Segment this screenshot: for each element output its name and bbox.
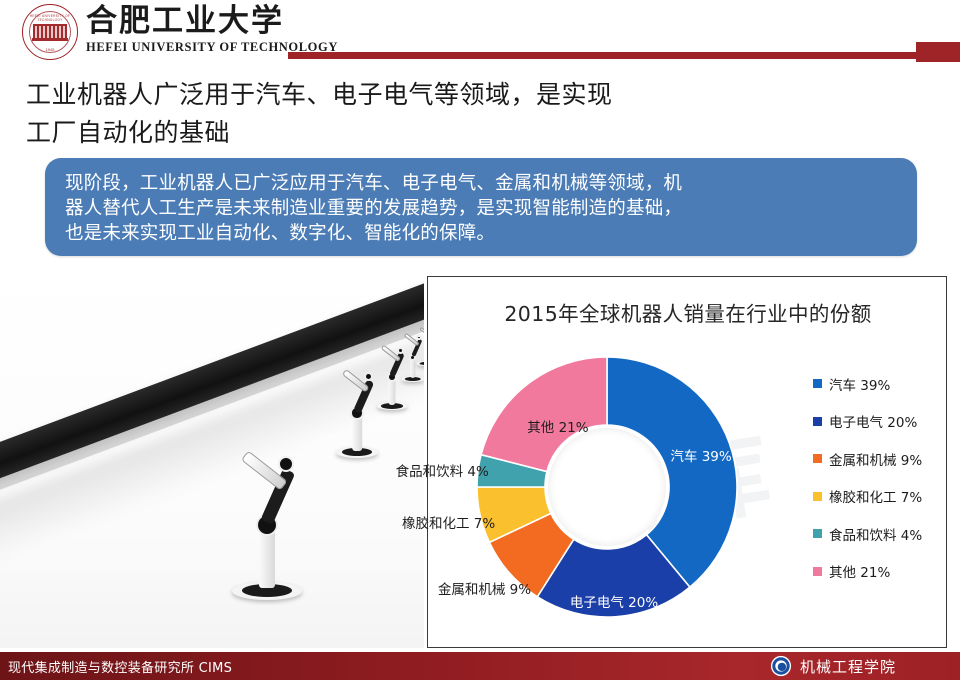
banner-line1: 现阶段，工业机器人已广泛应用于汽车、电子电气、金属和机械等领域，机: [65, 171, 905, 196]
legend-swatch-icon: [813, 492, 822, 501]
chart-panel: 2015年全球机器人销量在行业中的份额 智库 汽车 39%电子电气 20%金属和…: [427, 276, 947, 648]
legend-label: 电子电气 20%: [829, 411, 917, 431]
chart-legend: 汽车 39%电子电气 20%金属和机械 9%橡胶和化工 7%食品和饮料 4%其他…: [813, 365, 953, 590]
donut-center-hole: [548, 428, 666, 546]
page-title: 工业机器人广泛用于汽车、电子电气等领域，是实现 工厂自动化的基础: [26, 76, 856, 152]
legend-swatch-icon: [813, 417, 822, 426]
legend-swatch-icon: [813, 567, 822, 576]
legend-item[interactable]: 其他 21%: [813, 553, 953, 591]
summary-banner: 现阶段，工业机器人已广泛应用于汽车、电子电气、金属和机械等领域，机 器人替代人工…: [45, 158, 917, 256]
slide-footer: 现代集成制造与数控装备研究所 CIMS 机械工程学院: [0, 652, 960, 680]
summary-banner-text: 现阶段，工业机器人已广泛应用于汽车、电子电气、金属和机械等领域，机 器人替代人工…: [65, 171, 905, 246]
seal-base: [32, 38, 68, 41]
robot-forearm: [419, 327, 424, 337]
page-title-line1: 工业机器人广泛用于汽车、电子电气等领域，是实现: [26, 76, 856, 114]
donut-chart: 汽车 39%电子电气 20%金属和机械 9%橡胶和化工 7%食品和饮料 4%其他…: [471, 351, 743, 623]
page-title-line2: 工厂自动化的基础: [26, 114, 856, 152]
legend-item[interactable]: 金属和机械 9%: [813, 440, 953, 478]
donut-slice-label: 电子电气 20%: [570, 591, 658, 611]
university-name-cn: 合肥工业大学: [86, 3, 284, 39]
seal-year-text: 1945: [27, 47, 73, 52]
robot-arm: [222, 450, 312, 600]
header-accent-block: [916, 42, 960, 62]
robot-assembly-line-image: [0, 270, 424, 648]
slide-canvas: HEFEI UNIVERSITY OF TECHNOLOGY 1945 合肥工业…: [0, 0, 960, 680]
legend-label: 橡胶和化工 7%: [829, 486, 922, 506]
legend-label: 汽车 39%: [829, 374, 890, 394]
chart-title: 2015年全球机器人销量在行业中的份额: [428, 297, 948, 327]
legend-item[interactable]: 电子电气 20%: [813, 403, 953, 441]
robot-elbow-joint: [278, 456, 294, 472]
university-seal-logo: HEFEI UNIVERSITY OF TECHNOLOGY 1945: [22, 4, 78, 60]
gear-icon: [770, 655, 792, 677]
legend-label: 金属和机械 9%: [829, 449, 922, 469]
legend-item[interactable]: 食品和饮料 4%: [813, 515, 953, 553]
seal-building-icon: [33, 24, 67, 38]
seal-top-text: HEFEI UNIVERSITY OF TECHNOLOGY: [27, 14, 73, 22]
legend-label: 其他 21%: [829, 561, 890, 581]
donut-slice-label: 汽车 39%: [670, 445, 731, 465]
footer-institute-text: 现代集成制造与数控装备研究所 CIMS: [8, 657, 232, 676]
banner-line3: 也是未来实现工业自动化、数字化、智能化的保障。: [65, 221, 905, 246]
robot-arm: [414, 327, 424, 366]
donut-slice-label: 其他 21%: [527, 416, 588, 436]
legend-swatch-icon: [813, 529, 822, 538]
donut-slice-label: 金属和机械 9%: [438, 578, 531, 598]
header-rule: [288, 52, 916, 59]
legend-item[interactable]: 汽车 39%: [813, 365, 953, 403]
legend-swatch-icon: [813, 454, 822, 463]
donut-slice-label: 橡胶和化工 7%: [402, 512, 495, 532]
donut-slice-label: 食品和饮料 4%: [396, 460, 489, 480]
legend-item[interactable]: 橡胶和化工 7%: [813, 478, 953, 516]
slide-header: HEFEI UNIVERSITY OF TECHNOLOGY 1945 合肥工业…: [0, 0, 960, 62]
legend-swatch-icon: [813, 379, 822, 388]
banner-line2: 器人替代人工生产是未来制造业重要的发展趋势，是实现智能制造的基础，: [65, 196, 905, 221]
legend-label: 食品和饮料 4%: [829, 524, 922, 544]
footer-college-text: 机械工程学院: [800, 656, 896, 677]
